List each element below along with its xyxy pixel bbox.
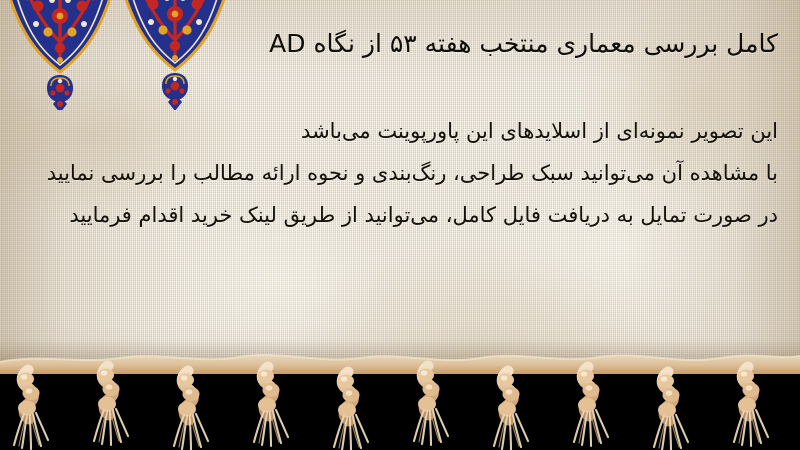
slide-headline: کامل بررسی معماری منتخب هفته ۵۳ از نگاه … — [250, 27, 778, 61]
slide-canvas: کامل بررسی معماری منتخب هفته ۵۳ از نگاه … — [0, 0, 800, 450]
body-line-1: این تصویر نمونه‌ای از اسلایدهای این پاور… — [20, 110, 778, 152]
body-line-2: با مشاهده آن می‌توانید سبک طراحی، رنگ‌بن… — [20, 152, 778, 194]
black-bottom-band — [0, 362, 800, 450]
slide-body-text: این تصویر نمونه‌ای از اسلایدهای این پاور… — [20, 110, 778, 236]
body-line-3: در صورت تمایل به دریافت فایل کامل، می‌تو… — [20, 194, 778, 236]
